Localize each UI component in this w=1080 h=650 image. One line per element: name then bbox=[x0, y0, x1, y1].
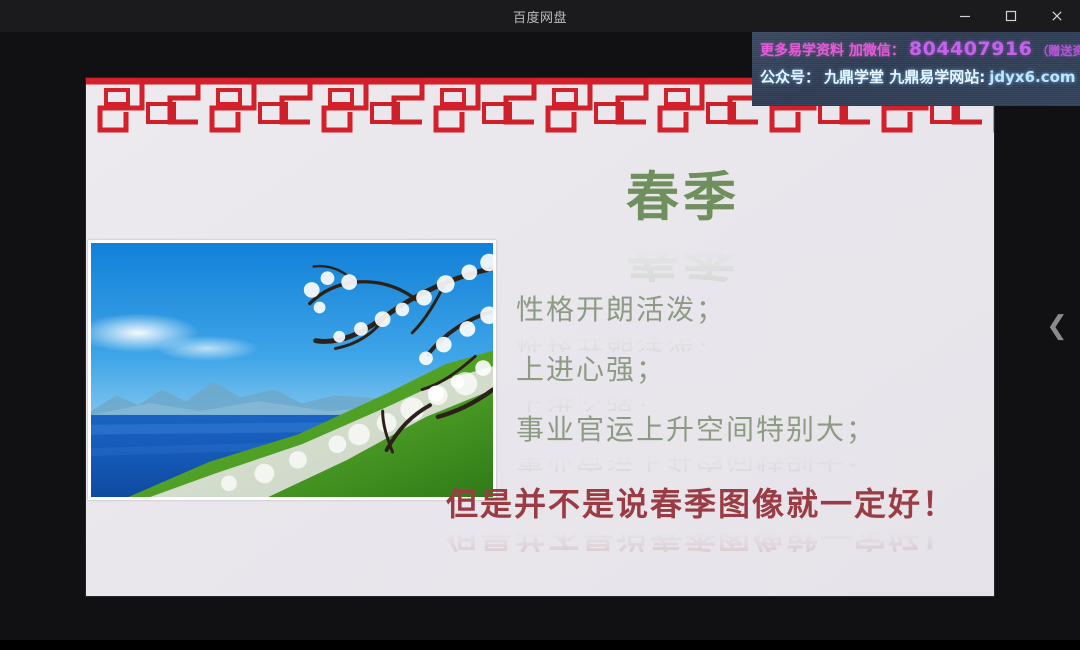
watermark-account-names: 九鼎学堂 九鼎易学网站: bbox=[824, 66, 985, 87]
watermark-gift-note: （赠送资料） bbox=[1036, 42, 1080, 59]
spring-landscape-photo bbox=[88, 240, 496, 500]
close-button[interactable] bbox=[1034, 0, 1080, 32]
slide-line-3-wrap: 事业官运上升空间特别大； 事业官运上升空间特别大； bbox=[516, 416, 876, 444]
slide-title: 春季 bbox=[626, 170, 740, 226]
prev-page-button[interactable]: ❮ bbox=[1042, 300, 1072, 352]
slide-line-2: 上进心强； bbox=[516, 356, 666, 384]
watermark-website: jdyx6.com bbox=[989, 68, 1075, 86]
watermark-wechat-number: 804407916 bbox=[909, 38, 1032, 60]
window-title: 百度网盘 bbox=[513, 7, 567, 26]
watermark-wechat-label: 更多易学资料 加微信： bbox=[760, 40, 905, 60]
promo-watermark-overlay: 更多易学资料 加微信： 804407916 （赠送资料） 公众号： 九鼎学堂 九… bbox=[752, 32, 1080, 106]
watermark-line-1: 更多易学资料 加微信： 804407916 （赠送资料） bbox=[760, 38, 1080, 60]
minimize-button[interactable] bbox=[942, 0, 988, 32]
app-root: 百度网盘 bbox=[0, 0, 1080, 650]
maximize-button[interactable] bbox=[988, 0, 1034, 32]
slide-conclusion: 但是并不是说春季图像就一定好！ bbox=[446, 488, 956, 520]
slide-conclusion-wrap: 但是并不是说春季图像就一定好！ 但是并不是说春季图像就一定好！ bbox=[446, 488, 956, 520]
slide-line-1: 性格开朗活泼； bbox=[516, 296, 726, 324]
window-titlebar: 百度网盘 bbox=[0, 0, 1080, 32]
window-controls bbox=[942, 0, 1080, 32]
slide-line-3: 事业官运上升空间特别大； bbox=[516, 416, 876, 444]
slide-canvas: 春季 春季 性格开朗活泼； 性格开朗活泼； 上进心强； 上进心强； 事业官运上升… bbox=[86, 78, 994, 596]
chevron-left-icon: ❮ bbox=[1046, 313, 1068, 339]
watermark-account-label: 公众号： bbox=[760, 66, 820, 87]
viewer-stage[interactable]: 春季 春季 性格开朗活泼； 性格开朗活泼； 上进心强； 上进心强； 事业官运上升… bbox=[0, 32, 1080, 650]
slide-title-wrap: 春季 春季 bbox=[626, 170, 740, 226]
slide-line-1-wrap: 性格开朗活泼； 性格开朗活泼； bbox=[516, 296, 726, 324]
bottom-strip bbox=[0, 640, 1080, 650]
watermark-line-2: 公众号： 九鼎学堂 九鼎易学网站: jdyx6.com bbox=[760, 66, 1080, 87]
slide-line-2-wrap: 上进心强； 上进心强； bbox=[516, 356, 666, 384]
